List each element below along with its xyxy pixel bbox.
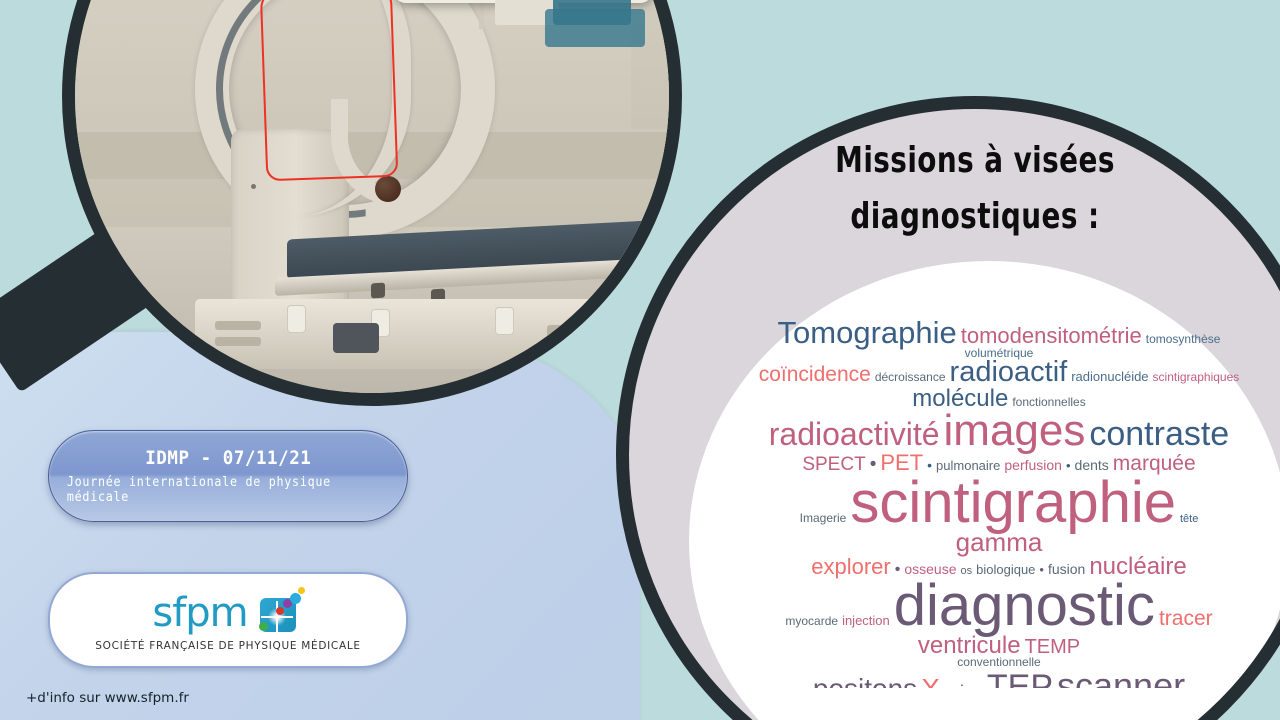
sfpm-dot-yellow-icon	[298, 587, 305, 594]
wordcloud-row: Imageriescintigraphietête	[718, 475, 1280, 531]
console-tube-3	[495, 307, 514, 335]
sfpm-logo-card[interactable]: sfpm SOCIÉTÉ FRANÇAISE DE PHYSIQUE MÉDIC…	[48, 572, 408, 668]
idmp-badge-subtitle: Journée internationale de physique médic…	[67, 475, 389, 505]
wordcloud-term: positons	[811, 676, 919, 688]
page-title-line-2: diagnostiques :	[677, 189, 1272, 245]
wordcloud-term: tracer	[1157, 609, 1215, 629]
wordcloud-term: ventricule	[916, 634, 1023, 657]
wordcloud-term: tomodensitométrie	[959, 325, 1144, 346]
wordcloud-term: radioactivité	[767, 419, 942, 450]
control-console	[195, 299, 665, 369]
console-button-1	[215, 321, 261, 330]
wordcloud-row: gamma	[718, 530, 1280, 555]
sfpm-dot-green-icon	[259, 622, 268, 631]
wordcloud-term: gamma	[954, 530, 1045, 555]
hose-knob	[375, 176, 401, 202]
sfpm-dot-cyan-icon	[290, 593, 301, 604]
wordcloud-term: Imagerie	[798, 513, 849, 525]
footer-note: +d'info sur www.sfpm.fr	[26, 690, 189, 706]
table-support-1	[371, 283, 385, 299]
wordcloud-term: tomosynthèse	[1144, 334, 1223, 346]
wordcloud-term: contraste	[1087, 418, 1231, 451]
console-button-3	[547, 325, 587, 347]
sfpm-wordmark: sfpm	[152, 593, 247, 633]
wordcloud-term: scintigraphiques	[1151, 372, 1242, 384]
wordcloud-term: tête	[1178, 514, 1200, 525]
wordcloud-term: reins	[942, 684, 985, 688]
c-arm-indicator	[251, 184, 256, 189]
photo-imaging-room	[62, 0, 682, 406]
wordcloud-term: explorer	[809, 556, 892, 577]
sfpm-mark-icon	[258, 592, 304, 634]
wordcloud-row: conventionnelle	[718, 657, 1280, 669]
idmp-badge[interactable]: IDMP - 07/11/21 Journée internationale d…	[48, 430, 408, 522]
console-touchscreen	[333, 323, 379, 353]
wordcloud-term: Tomographie	[776, 318, 959, 348]
equipment-cart	[545, 9, 645, 47]
console-button-2	[215, 337, 261, 346]
wordcloud-term: conventionnelle	[955, 657, 1042, 669]
wordcloud-term: décroissance	[873, 372, 948, 384]
page-title: Missions à visées diagnostiques :	[677, 133, 1272, 245]
wordcloud-term: coïncidence	[757, 365, 873, 385]
idmp-badge-title: IDMP - 07/11/21	[145, 447, 311, 469]
wordcloud-term: diagnostic	[892, 578, 1157, 634]
wordcloud-term: scanner	[1055, 669, 1187, 688]
wordcloud-term: images	[942, 410, 1088, 452]
wordcloud-term: radionucléide	[1069, 371, 1150, 383]
sfpm-tagline: SOCIÉTÉ FRANÇAISE DE PHYSIQUE MÉDICALE	[95, 640, 360, 652]
wordcloud-row: Tomographietomodensitométrietomosynthèse	[718, 318, 1280, 348]
wordcloud: Tomographietomodensitométrietomosynthèse…	[718, 318, 1280, 688]
sfpm-logo-row: sfpm	[152, 589, 303, 637]
wordcloud-term: radioactif	[948, 359, 1070, 387]
wordcloud-row: coïncidencedécroissanceradioactifradionu…	[718, 359, 1280, 387]
wordcloud-term: injection	[840, 615, 892, 627]
wordcloud-term: X	[919, 676, 942, 688]
wordcloud-term: scintigraphie	[848, 475, 1178, 531]
red-annotation-outline	[260, 0, 399, 181]
sfpm-dot-red-icon	[276, 607, 284, 615]
page-title-line-1: Missions à visées	[677, 133, 1272, 189]
console-tube-1	[287, 305, 306, 333]
wordcloud-row: myocardeinjectiondiagnostictracer	[718, 578, 1280, 634]
wordcloud-term: TEP	[985, 671, 1055, 688]
monitor-post	[479, 0, 484, 29]
wordcloud-row: ventriculeTEMP	[718, 634, 1280, 657]
wordcloud-row: positonsXreinsTEPscanner	[718, 669, 1280, 688]
photo-content	[75, 0, 669, 393]
wordcloud-row: radioactivitéimagescontraste	[718, 410, 1280, 452]
slide-root: Missions à visées diagnostiques : Tomogr…	[0, 0, 1280, 720]
wordcloud-term: myocarde	[783, 616, 840, 628]
